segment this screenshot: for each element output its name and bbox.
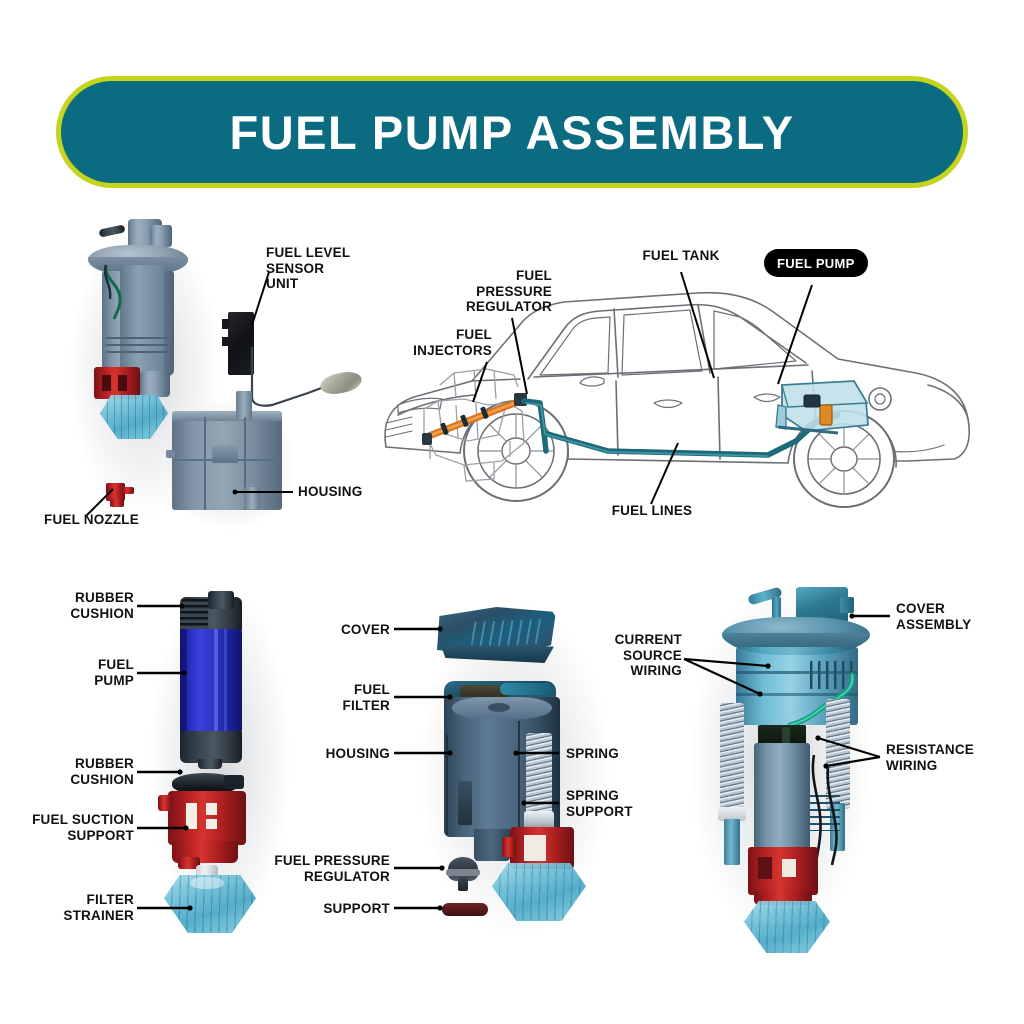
housing-mid-groove-2 — [518, 721, 520, 837]
fuel-pump-blue-highlight-2 — [224, 629, 227, 733]
housing-mid-groove-1 — [446, 735, 448, 835]
fuel-pump-badge: FUEL PUMP — [764, 249, 868, 277]
label-fuel-nozzle: FUEL NOZZLE — [44, 512, 174, 528]
pump-module-wire — [96, 263, 156, 323]
fuel-pump-blue-highlight-1 — [214, 629, 218, 733]
housing-block-tower — [236, 391, 252, 419]
housing-detail-v1 — [204, 417, 206, 510]
label-filter-strainer: FILTER STRAINER — [10, 892, 134, 923]
housing-mid-slot — [458, 781, 472, 825]
fuel-suction-support-window-1 — [186, 803, 197, 829]
spring-part — [526, 733, 552, 817]
label-fuel-pump-bottomleft: FUEL PUMP — [10, 657, 134, 688]
right-red-support-window-1 — [758, 857, 772, 879]
pump-module-rib-1 — [106, 337, 168, 339]
housing-block — [172, 417, 282, 510]
fuel-nozzle-foot — [110, 499, 124, 507]
pump-module-red-connector — [94, 367, 140, 399]
pump-module-rib-2 — [106, 344, 168, 346]
fuel-filter-teal-edge — [500, 683, 552, 695]
page-title-banner: FUEL PUMP ASSEMBLY — [56, 76, 968, 188]
fuel-pump-outlet — [198, 759, 222, 769]
fuel-level-sensor-tab-2 — [222, 337, 230, 346]
housing-detail-foot — [244, 487, 260, 509]
label-support: SUPPORT — [284, 901, 390, 917]
fuel-pressure-regulator-mid-flange — [446, 869, 480, 876]
filter-strainer-bottomleft-cap — [190, 877, 224, 889]
pump-module-red-connector-slot-2 — [118, 375, 127, 391]
label-fuel-suction-support: FUEL SUCTION SUPPORT — [4, 812, 134, 843]
filter-strainer-right-mesh — [744, 901, 830, 953]
filter-strainer-mid-mesh — [492, 863, 586, 921]
rubber-cushion-top-ribs — [180, 599, 208, 629]
label-cover: COVER — [284, 622, 390, 638]
label-spring-support: SPRING SUPPORT — [566, 788, 666, 819]
support-part — [442, 903, 488, 916]
label-rubber-cushion-bottom: RUBBER CUSHION — [10, 756, 134, 787]
right-red-support-window-2 — [782, 859, 796, 877]
wiring-connector-pin — [782, 727, 790, 743]
pump-module-top-fitting-2 — [150, 225, 172, 247]
pump-module-rib-3 — [106, 351, 168, 353]
label-spring: SPRING — [566, 746, 666, 762]
right-left-spring — [720, 703, 744, 815]
housing-mid-top-port — [488, 703, 510, 712]
label-fuel-pressure-regulator-car: FUEL PRESSURE REGULATOR — [432, 268, 552, 315]
mid-red-bracket-window — [524, 835, 546, 861]
fuel-pump-blue-shadow-edge — [180, 629, 187, 733]
label-fuel-lines: FUEL LINES — [602, 503, 702, 519]
cover-lower-lip — [436, 645, 554, 663]
fuel-suction-support-knob — [158, 795, 172, 811]
fuel-nozzle-stem — [122, 487, 134, 494]
fuel-suction-support-window-3 — [206, 819, 217, 829]
label-rubber-cushion-top: RUBBER CUSHION — [10, 590, 134, 621]
label-housing-mid: HOUSING — [284, 746, 390, 762]
fuel-suction-support-body — [168, 791, 246, 845]
fuel-pump-badge-label: FUEL PUMP — [777, 256, 855, 271]
label-resistance-wiring: RESISTANCE WIRING — [886, 742, 1006, 773]
right-left-spring-rod — [724, 819, 740, 865]
fuel-pump-top-boss — [208, 591, 234, 609]
fuel-pressure-regulator-mid-stem — [458, 877, 468, 891]
fuel-pump-blue-body — [180, 629, 242, 733]
pump-module-red-connector-slot-1 — [102, 375, 111, 391]
label-fuel-injectors: FUEL INJECTORS — [412, 327, 492, 358]
label-fuel-filter: FUEL FILTER — [284, 682, 390, 713]
housing-detail-box — [212, 445, 238, 463]
label-current-source-wiring: CURRENT SOURCE WIRING — [592, 632, 682, 679]
pump-module-inlet-nipple — [98, 224, 125, 237]
housing-detail-nub — [166, 450, 175, 458]
label-fuel-tank: FUEL TANK — [625, 248, 737, 264]
fuel-pump-assembly-diagram: FUEL PUMP ASSEMBLY — [0, 0, 1024, 1024]
mid-red-bracket-arm — [502, 837, 516, 857]
rubber-cushion-bottom-tab — [224, 775, 244, 789]
fuel-suction-support-window-2 — [206, 803, 217, 815]
housing-block-top-edge — [172, 411, 282, 421]
right-top-connector-tab — [840, 597, 854, 613]
label-cover-assembly: COVER ASSEMBLY — [896, 601, 1006, 632]
page-title: FUEL PUMP ASSEMBLY — [230, 105, 795, 160]
fuel-level-sensor-tab — [222, 319, 230, 329]
filter-strainer-topleft-lines — [100, 395, 168, 439]
pump-module-lower-boss — [140, 371, 170, 397]
label-fuel-pressure-regulator-mid: FUEL PRESSURE REGULATOR — [266, 853, 390, 884]
fuel-tank-part — [776, 381, 868, 433]
